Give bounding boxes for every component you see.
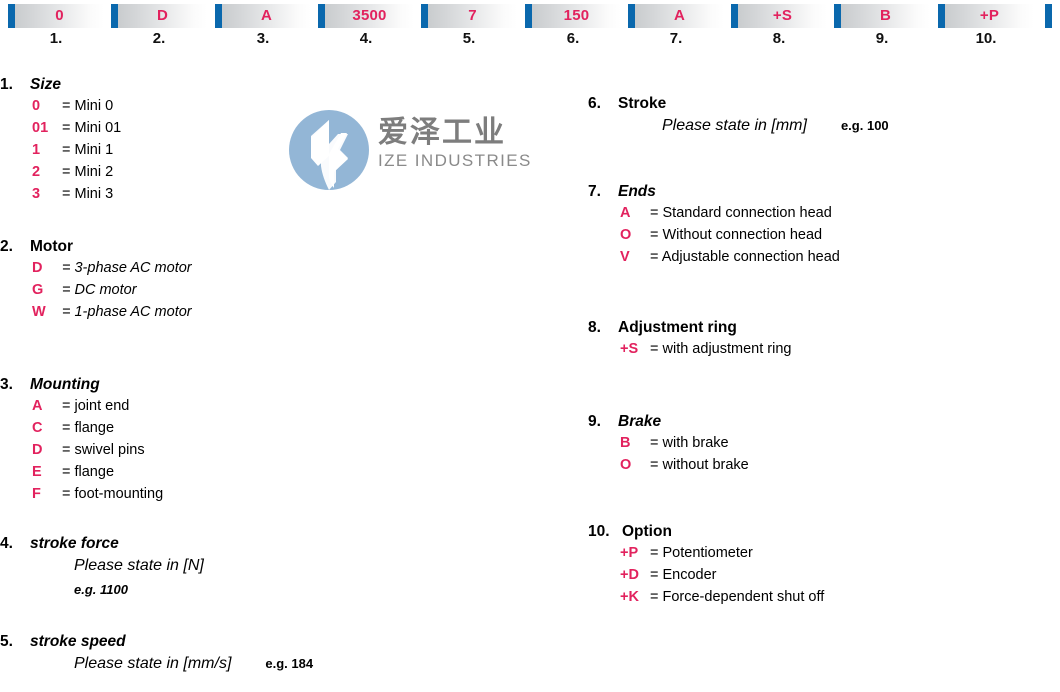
example-value: e.g. 184: [265, 656, 313, 671]
option-code: 3: [32, 186, 62, 202]
code-cell-accent-bar: [525, 4, 532, 28]
right-legend-column: 6.StrokePlease state in [mm]e.g. 1007.En…: [588, 95, 1058, 611]
left-legend-column: 1.Size0= Mini 001= Mini 011= Mini 12= Mi…: [0, 76, 560, 679]
option-row[interactable]: +D= Encoder: [588, 567, 1058, 589]
section-index: 2.: [0, 238, 30, 256]
option-code: V: [620, 249, 650, 265]
section-heading: 6.Stroke: [588, 95, 1058, 117]
option-code: O: [620, 227, 650, 243]
code-cell-value: D: [118, 4, 207, 28]
section-title: Option: [622, 523, 672, 540]
option-code: +S: [620, 341, 650, 357]
option-description: = 1-phase AC motor: [62, 304, 192, 320]
code-cell-value: 150: [532, 4, 621, 28]
legend-section-3: 3.MountingA= joint endC= flangeD= swivel…: [0, 376, 560, 508]
code-cell-number-10: 10.: [938, 28, 1034, 50]
legend-section-5: 5.stroke speedPlease state in [mm/s]e.g.…: [0, 633, 560, 679]
option-code: E: [32, 464, 62, 480]
code-cell-number-1: 1.: [8, 28, 104, 50]
option-code: O: [620, 457, 650, 473]
option-description: = without brake: [650, 457, 749, 473]
option-code: 1: [32, 142, 62, 158]
legend-section-1: 1.Size0= Mini 001= Mini 011= Mini 12= Mi…: [0, 76, 560, 208]
option-description: = Force-dependent shut off: [650, 589, 824, 605]
option-description: = Mini 0: [62, 98, 113, 114]
code-cell-accent-bar: [628, 4, 635, 28]
option-description: = Mini 2: [62, 164, 113, 180]
code-cell-value: 3500: [325, 4, 414, 28]
example-row: e.g. 1100: [0, 581, 560, 603]
option-description: = with brake: [650, 435, 729, 451]
option-description: = DC motor: [62, 282, 137, 298]
option-code: A: [32, 398, 62, 414]
example-value: e.g. 100: [841, 118, 889, 133]
code-cell-7[interactable]: A: [628, 4, 724, 28]
option-row[interactable]: 01= Mini 01: [0, 120, 560, 142]
section-index: 9.: [588, 413, 618, 431]
option-description: = Adjustable connection head: [650, 249, 840, 265]
code-cell-6[interactable]: 150: [525, 4, 621, 28]
example-value: e.g. 1100: [74, 582, 128, 597]
section-title: Mounting: [30, 376, 100, 393]
section-index: 6.: [588, 95, 618, 113]
option-row[interactable]: B= with brake: [588, 435, 1058, 457]
option-code: F: [32, 486, 62, 502]
section-heading: 9.Brake: [588, 413, 1058, 435]
option-row[interactable]: +K= Force-dependent shut off: [588, 589, 1058, 611]
code-cell-4[interactable]: 3500: [318, 4, 414, 28]
section-title: stroke speed: [30, 633, 126, 650]
option-code: B: [620, 435, 650, 451]
section-index: 1.: [0, 76, 30, 94]
option-description: = joint end: [62, 398, 129, 414]
option-description: = Without connection head: [650, 227, 822, 243]
option-row[interactable]: 3= Mini 3: [0, 186, 560, 208]
code-cell-value: 0: [15, 4, 104, 28]
option-row[interactable]: 2= Mini 2: [0, 164, 560, 186]
code-cell-3[interactable]: A: [215, 4, 311, 28]
ordering-code-strip: 01.D2.A3.35004.75.1506.A7.+S8.B9.+P10.: [0, 0, 1060, 52]
state-value-row: Please state in [mm]e.g. 100: [588, 117, 1058, 141]
option-row[interactable]: C= flange: [0, 420, 560, 442]
legend-section-7: 7.EndsA= Standard connection headO= With…: [588, 183, 1058, 271]
code-cell-number-9: 9.: [834, 28, 930, 50]
option-row[interactable]: E= flange: [0, 464, 560, 486]
option-code: A: [620, 205, 650, 221]
legend-section-4: 4.stroke forcePlease state in [N]e.g. 11…: [0, 535, 560, 603]
option-row[interactable]: O= without brake: [588, 457, 1058, 479]
option-code: +P: [620, 545, 650, 561]
section-heading: 7.Ends: [588, 183, 1058, 205]
option-description: = Mini 3: [62, 186, 113, 202]
code-cell-accent-bar: [731, 4, 738, 28]
code-cell-9[interactable]: B: [834, 4, 930, 28]
option-row[interactable]: W= 1-phase AC motor: [0, 304, 560, 326]
code-cell-value: B: [841, 4, 930, 28]
legend-section-6: 6.StrokePlease state in [mm]e.g. 100: [588, 95, 1058, 141]
section-title: Motor: [30, 238, 73, 255]
option-row[interactable]: 0= Mini 0: [0, 98, 560, 120]
code-strip-trailing-bar: [1045, 4, 1052, 28]
section-index: 7.: [588, 183, 618, 201]
code-cell-2[interactable]: D: [111, 4, 207, 28]
option-code: W: [32, 304, 62, 320]
option-description: = Potentiometer: [650, 545, 753, 561]
option-row[interactable]: +P= Potentiometer: [588, 545, 1058, 567]
code-cell-number-8: 8.: [731, 28, 827, 50]
section-heading: 3.Mounting: [0, 376, 560, 398]
option-row[interactable]: A= Standard connection head: [588, 205, 1058, 227]
option-row[interactable]: D= swivel pins: [0, 442, 560, 464]
option-code: +D: [620, 567, 650, 583]
option-description: = Mini 1: [62, 142, 113, 158]
option-code: +K: [620, 589, 650, 605]
option-code: D: [32, 260, 62, 276]
option-code: D: [32, 442, 62, 458]
state-value-row: Please state in [mm/s]e.g. 184: [0, 655, 560, 679]
option-description: = Standard connection head: [650, 205, 832, 221]
code-cell-accent-bar: [111, 4, 118, 28]
option-row[interactable]: 1= Mini 1: [0, 142, 560, 164]
code-cell-accent-bar: [834, 4, 841, 28]
section-index: 8.: [588, 319, 618, 337]
option-row[interactable]: F= foot-mounting: [0, 486, 560, 508]
code-cell-number-5: 5.: [421, 28, 517, 50]
code-cell-accent-bar: [8, 4, 15, 28]
code-cell-number-4: 4.: [318, 28, 414, 50]
section-heading: 2.Motor: [0, 238, 560, 260]
code-cell-accent-bar: [318, 4, 325, 28]
option-row[interactable]: O= Without connection head: [588, 227, 1058, 249]
section-heading: 1.Size: [0, 76, 560, 98]
option-row[interactable]: V= Adjustable connection head: [588, 249, 1058, 271]
section-title: Brake: [618, 413, 661, 430]
state-instruction: Please state in [mm/s]: [74, 655, 231, 672]
code-cell-accent-bar: [215, 4, 222, 28]
state-instruction: Please state in [N]: [74, 557, 204, 574]
legend-section-10: 10.Option+P= Potentiometer+D= Encoder+K=…: [588, 523, 1058, 611]
section-index: 10.: [588, 523, 622, 541]
option-row[interactable]: D= 3-phase AC motor: [0, 260, 560, 282]
section-title: stroke force: [30, 535, 119, 552]
legend-section-9: 9.BrakeB= with brakeO= without brake: [588, 413, 1058, 479]
option-description: = swivel pins: [62, 442, 145, 458]
code-cell-value: A: [635, 4, 724, 28]
section-heading: 4.stroke force: [0, 535, 560, 557]
option-description: = 3-phase AC motor: [62, 260, 192, 276]
section-title: Stroke: [618, 95, 666, 112]
section-title: Adjustment ring: [618, 319, 737, 336]
state-instruction: Please state in [mm]: [662, 117, 807, 134]
option-code: 0: [32, 98, 62, 114]
option-code: C: [32, 420, 62, 436]
option-row[interactable]: +S= with adjustment ring: [588, 341, 1058, 363]
code-cell-number-3: 3.: [215, 28, 311, 50]
code-cell-accent-bar: [421, 4, 428, 28]
section-index: 5.: [0, 633, 30, 651]
code-cell-5[interactable]: 7: [421, 4, 517, 28]
section-title: Size: [30, 76, 61, 93]
code-cell-value: A: [222, 4, 311, 28]
legend-section-8: 8.Adjustment ring+S= with adjustment rin…: [588, 319, 1058, 363]
option-description: = with adjustment ring: [650, 341, 791, 357]
code-cell-number-2: 2.: [111, 28, 207, 50]
section-heading: 10.Option: [588, 523, 1058, 545]
section-title: Ends: [618, 183, 656, 200]
option-description: = Encoder: [650, 567, 717, 583]
option-code: 2: [32, 164, 62, 180]
section-heading: 5.stroke speed: [0, 633, 560, 655]
state-value-row: Please state in [N]: [0, 557, 560, 581]
option-description: = foot-mounting: [62, 486, 163, 502]
option-description: = Mini 01: [62, 120, 121, 136]
code-cell-value: 7: [428, 4, 517, 28]
section-index: 4.: [0, 535, 30, 553]
section-heading: 8.Adjustment ring: [588, 319, 1058, 341]
option-row[interactable]: G= DC motor: [0, 282, 560, 304]
option-row[interactable]: A= joint end: [0, 398, 560, 420]
code-cell-value: +S: [738, 4, 827, 28]
code-cell-10[interactable]: +P: [938, 4, 1034, 28]
section-index: 3.: [0, 376, 30, 394]
legend-section-2: 2.MotorD= 3-phase AC motorG= DC motorW= …: [0, 238, 560, 326]
code-cell-number-6: 6.: [525, 28, 621, 50]
code-cell-1[interactable]: 0: [8, 4, 104, 28]
option-code: 01: [32, 120, 62, 136]
code-cell-8[interactable]: +S: [731, 4, 827, 28]
option-description: = flange: [62, 420, 114, 436]
option-code: G: [32, 282, 62, 298]
option-description: = flange: [62, 464, 114, 480]
code-cell-accent-bar: [938, 4, 945, 28]
code-cell-number-7: 7.: [628, 28, 724, 50]
code-cell-value: +P: [945, 4, 1034, 28]
